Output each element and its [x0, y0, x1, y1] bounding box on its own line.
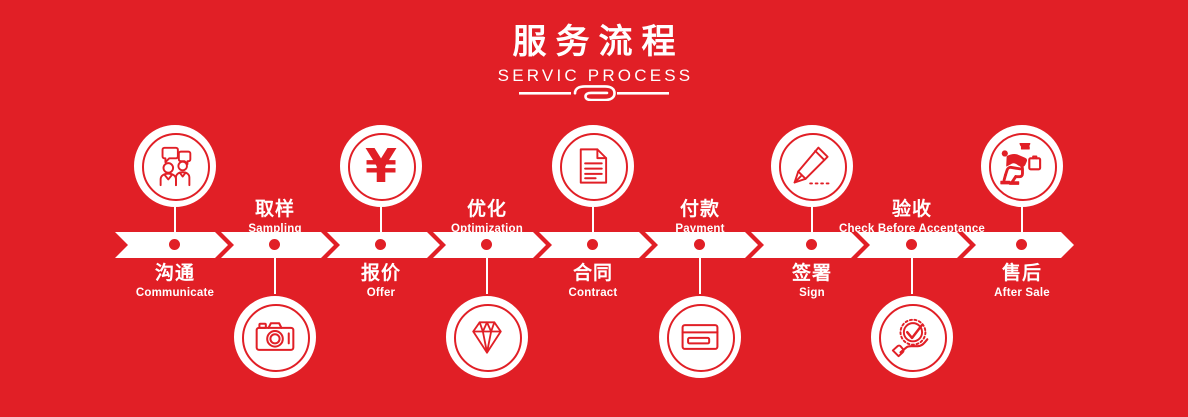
pencil-signature-icon [774, 128, 850, 204]
paperclip-divider-icon [519, 85, 669, 101]
step-label-cn: 报价 [271, 262, 491, 285]
yen-currency-icon: ¥ [343, 128, 419, 204]
step-icon-circle-contract[interactable] [552, 125, 634, 207]
step-icon-circle-check-before-acceptance[interactable] [871, 296, 953, 378]
step-icon-circle-payment[interactable] [659, 296, 741, 378]
step-label-offer: 报价 Offer [271, 262, 491, 301]
step-label-after-sale: 售后 After Sale [912, 262, 1132, 301]
step-icon-circle-optimization[interactable] [446, 296, 528, 378]
step-label-cn: 售后 [912, 262, 1132, 285]
step-icon-circle-offer[interactable]: ¥ [340, 125, 422, 207]
page-title-en: SERVIC PROCESS [0, 65, 1188, 87]
step-label-en: Sampling [165, 222, 385, 237]
node-dot [694, 239, 705, 250]
camera-icon [237, 299, 313, 375]
node-dot [269, 239, 280, 250]
diamond-gem-icon [449, 299, 525, 375]
step-label-cn: 合同 [483, 262, 703, 285]
service-process-banner: 服务流程 SERVIC PROCESS [0, 0, 1188, 417]
node-dot [587, 239, 598, 250]
step-icon-circle-after-sale[interactable] [981, 125, 1063, 207]
step-label-contract: 合同 Contract [483, 262, 703, 301]
step-label-cn: 签署 [702, 262, 922, 285]
step-label-en: Payment [590, 222, 810, 237]
connector-stem [1021, 207, 1023, 237]
step-icon-circle-sign[interactable] [771, 125, 853, 207]
step-icon-circle-sampling[interactable] [234, 296, 316, 378]
page-title-cn: 服务流程 [0, 22, 1188, 62]
step-label-sign: 签署 Sign [702, 262, 922, 301]
node-dot [906, 239, 917, 250]
step-icon-circle-communicate[interactable] [134, 125, 216, 207]
connector-stem [699, 252, 701, 294]
step-label-communicate: 沟通 Communicate [65, 262, 285, 301]
yen-glyph: ¥ [365, 143, 397, 189]
step-label-cn: 沟通 [65, 262, 285, 285]
step-label-en: After Sale [912, 286, 1132, 301]
node-dot [1016, 239, 1027, 250]
running-delivery-person-icon [984, 128, 1060, 204]
node-dot [375, 239, 386, 250]
credit-card-icon [662, 299, 738, 375]
people-speech-bubbles-icon [137, 128, 213, 204]
node-dot [481, 239, 492, 250]
document-contract-icon [555, 128, 631, 204]
node-dot [806, 239, 817, 250]
step-label-en: Optimization [377, 222, 597, 237]
hand-checkmark-badge-icon [874, 299, 950, 375]
step-label-en: Check Before Acceptance [802, 222, 1022, 237]
banner-header: 服务流程 SERVIC PROCESS [0, 22, 1188, 87]
node-dot [169, 239, 180, 250]
